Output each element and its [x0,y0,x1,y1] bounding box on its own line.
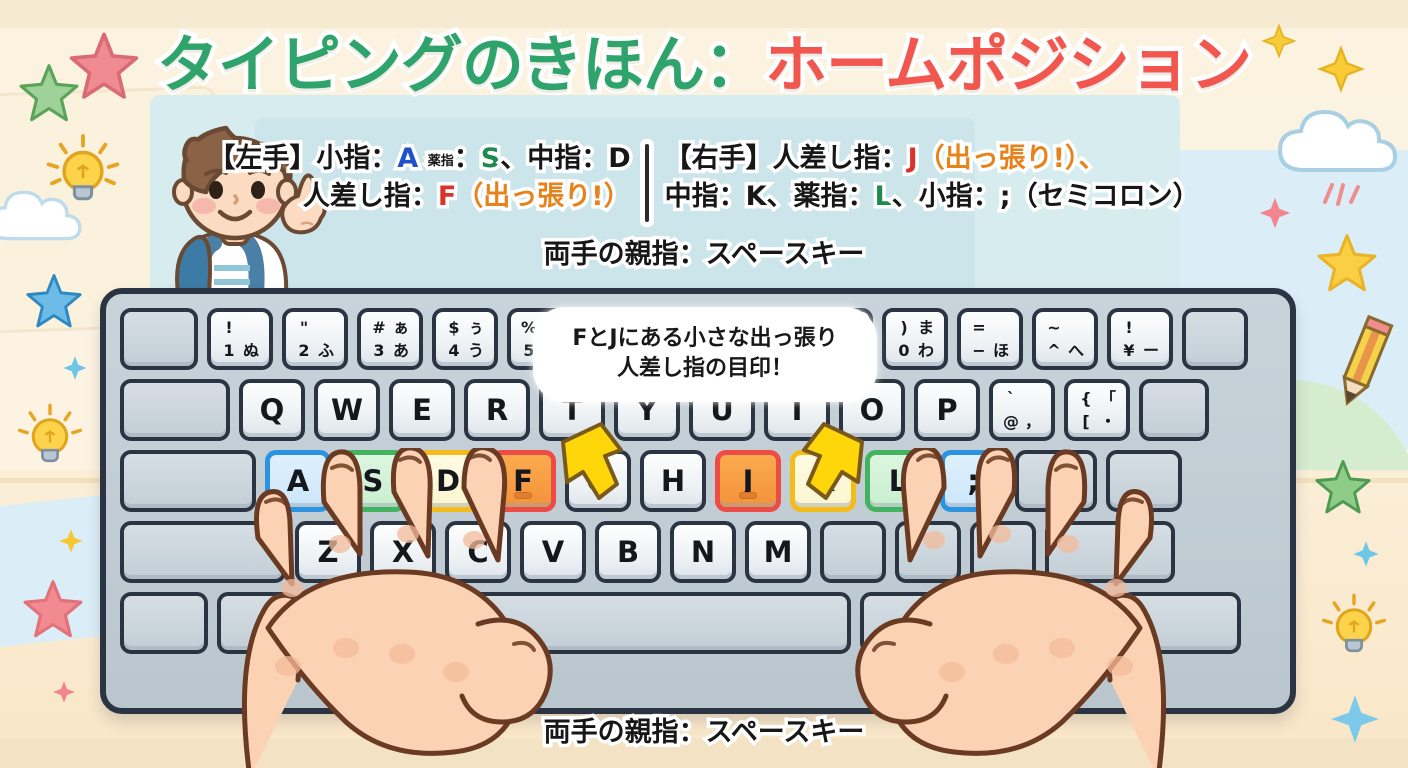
key-legend-br: わ [918,343,934,359]
sparkle-yellow-left-icon [58,528,84,554]
left-line2-note: （出っ張り!） [456,181,630,212]
key-legend-br: ー [1143,343,1159,359]
key-legend-tr: ま [918,320,934,336]
infographic-canvas: タイピングのきほん：ホームポジション 【左手】小指：A 薬指：S、中指：D 人差… [0,0,1408,768]
left-line1-mid: ： [454,143,481,174]
key-legend-br: ・ [1100,414,1116,430]
key-legend-bl: ¥ [1123,343,1134,359]
key-jis-¥[interactable]: !¥ー [1107,308,1173,370]
title-separator: ： [704,28,765,101]
right-line2-suffix: 、小指：;（セミコロン） [892,181,1200,212]
left-line2-prefix: 人差し指： [303,181,438,212]
key-legend-br: へ [1068,343,1084,359]
key-p[interactable]: P [914,379,980,441]
thumbs-instruction: 両手の親指：スペースキー [0,232,1408,271]
star-yellow-topleft-small-icon [1244,0,1245,1]
left-hand-line1: 【左手】小指：A 薬指：S、中指：D [208,140,630,178]
key-legend-br: あ [393,343,409,359]
key-legend-tl: ! [1125,320,1132,336]
key-legend-br: ふ [318,343,334,359]
key-n[interactable]: N [670,521,736,583]
left-line1-suffix: 、中指：D [500,143,630,174]
key-legend-bl: 1 [223,343,234,359]
key-f-ref: F [438,181,456,212]
key-jis-−[interactable]: =−ほ [957,308,1023,370]
key-legend-br: ， [1025,414,1041,430]
key-legend-tl: ) [900,320,907,336]
key-legend-bl: − [972,343,985,359]
key-legend-tl: " [300,320,308,336]
sparkle-blue-left-icon [62,355,88,381]
key-jis-2[interactable]: "2ふ [282,308,348,370]
key-legend-tl: ! [225,320,232,336]
bottom-caption: 両手の親指：スペースキー [0,710,1408,749]
key-l-ref: L [875,181,892,212]
key-legend-br: ほ [993,343,1009,359]
key-j-ref: J [908,143,918,174]
key-jis-@[interactable]: `@， [989,379,1055,441]
right-line1-prefix: 【右手】人差し指： [665,143,908,174]
left-line1-ruby: 薬指 [428,156,454,168]
callout-line-2: 人差し指の目印！ [556,354,854,384]
pencil-right-icon [1324,318,1402,410]
key-e[interactable]: E [389,379,455,441]
left-hand-instructions: 【左手】小指：A 薬指：S、中指：D 人差し指：F（出っ張り!） [208,140,644,217]
callout-bubble: FとJにある小さな出っ張り 人差し指の目印！ [540,314,870,395]
key-jis-[[interactable]: {「[・ [1064,379,1130,441]
key-legend-tl: ` [1007,391,1015,407]
right-line2-prefix: 中指：K、薬指： [665,181,875,212]
sparkle-pink-lowerleft-icon [52,680,76,704]
key-jis-3[interactable]: #ぁ3あ [357,308,423,370]
key-legend-bl: 2 [298,343,309,359]
key-modifier-blank[interactable] [120,592,208,654]
key-legend-tr: ぅ [468,320,484,336]
key-jis-4[interactable]: $ぅ4う [432,308,498,370]
instructions-block: 【左手】小指：A 薬指：S、中指：D 人差し指：F（出っ張り!） 【右手】人差し… [0,140,1408,222]
key-jis-0[interactable]: )ま0わ [882,308,948,370]
title-part2: ホームポジション [765,28,1251,101]
key-legend-tr: 「 [1100,391,1116,407]
key-legend-tl: { [1080,391,1091,407]
key-legend-bl: ^ [1047,343,1060,359]
key-r[interactable]: R [464,379,530,441]
key-modifier-blank[interactable] [120,308,198,370]
lightbulb-lowerleft-icon [12,400,88,476]
key-a-ref: A [397,143,418,174]
right-line1-note: （出っ張り!）、 [918,143,1106,174]
key-modifier-blank[interactable] [120,379,230,441]
key-legend-tl: $ [448,320,459,336]
key-w[interactable]: W [314,379,380,441]
key-modifier-blank[interactable] [1182,308,1248,370]
star-pink-lowerleft-icon [22,578,84,640]
left-line1-prefix: 【左手】小指： [208,143,397,174]
background-top-band [0,0,1408,30]
key-legend-bl: [ [1082,414,1089,430]
right-hand-line2: 中指：K、薬指：L、小指：;（セミコロン） [665,178,1200,216]
key-s-ref: S [481,143,500,174]
page-title: タイピングのきほん：ホームポジション [0,34,1408,96]
key-jis-^[interactable]: ~^へ [1032,308,1098,370]
left-hand-line2: 人差し指：F（出っ張り!） [208,178,630,216]
key-legend-bl: 4 [448,343,459,359]
right-hand-line1: 【右手】人差し指：J（出っ張り!）、 [665,140,1200,178]
key-modifier-blank[interactable] [1139,379,1209,441]
key-legend-tl: # [372,320,385,336]
callout-line-1: FとJにある小さな出っ張り [556,324,854,354]
star-green-lowerright-icon [1314,458,1372,516]
key-jis-1[interactable]: !1ぬ [207,308,273,370]
title-part1: タイピングのきほん [157,28,704,101]
key-legend-br: う [468,343,484,359]
key-q[interactable]: Q [239,379,305,441]
right-hand-instructions: 【右手】人差し指：J（出っ張り!）、 中指：K、薬指：L、小指：;（セミコロン） [649,140,1200,217]
key-legend-bl: @ [1003,414,1019,430]
sparkle-blue-lowerright-icon [1352,540,1380,568]
star-blue-left-icon [25,272,83,330]
key-legend-tl: ~ [1047,320,1060,336]
key-legend-bl: 3 [373,343,384,359]
key-legend-bl: 0 [898,343,909,359]
lightbulb-lowerright-icon [1316,590,1392,666]
key-legend-tl: = [972,320,985,336]
key-legend-br: ぬ [243,343,259,359]
key-legend-tr: ぁ [393,320,409,336]
